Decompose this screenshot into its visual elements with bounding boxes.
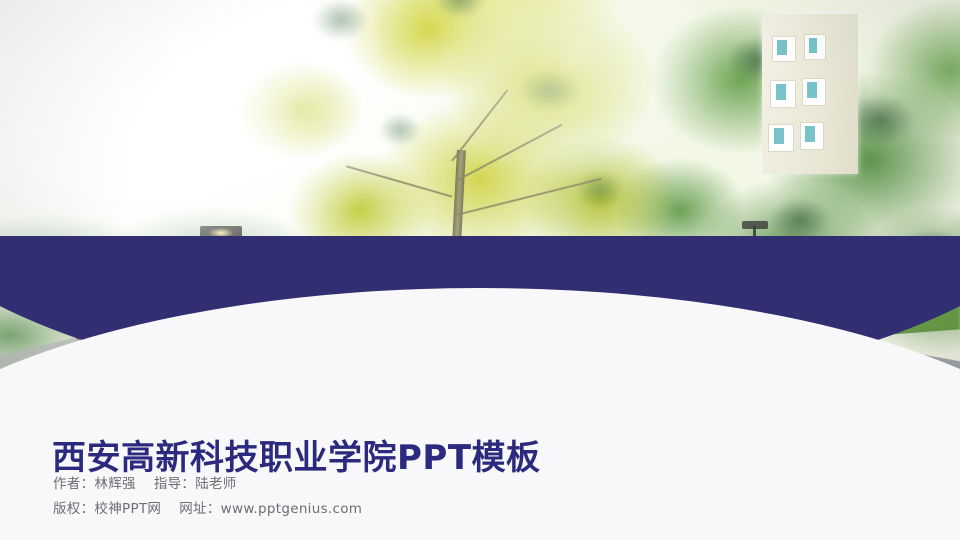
trash-bin: [354, 318, 374, 354]
street-lamp-pole: [753, 226, 756, 306]
banner-photo: [0, 0, 960, 372]
fence-sign: [187, 309, 236, 341]
ppt-cover-slide: 西安高新科技职业学院PPT模板 作者：林辉强指导：陆老师 版权：校神PPT网网址…: [0, 0, 960, 540]
street-lamp-head: [742, 221, 768, 229]
building-window: [804, 34, 826, 60]
street-lamp-pole: [219, 232, 223, 336]
street-lamp-glow: [209, 228, 233, 238]
building-window: [768, 124, 794, 152]
copyright-line: 版权：校神PPT网网址：www.pptgenius.com: [53, 497, 362, 517]
author-label: 作者：林辉强: [53, 476, 136, 492]
trash-bin-lid: [352, 314, 376, 320]
building-window: [802, 78, 826, 106]
campus-road-photo: [0, 0, 960, 372]
copyright-label: 版权：校神PPT网: [53, 501, 161, 517]
footer-region: 西安高新科技职业学院PPT模板 作者：林辉强指导：陆老师 版权：校神PPT网网址…: [0, 372, 960, 540]
building-window: [800, 122, 824, 150]
author-line: 作者：林辉强指导：陆老师: [53, 472, 237, 492]
advisor-label: 指导：陆老师: [154, 476, 237, 492]
dormitory-building: [762, 14, 858, 174]
building-window: [772, 36, 796, 62]
website-label: 网址：www.pptgenius.com: [179, 501, 362, 517]
building-window: [770, 80, 796, 108]
trash-bin-secondary: [374, 326, 390, 354]
